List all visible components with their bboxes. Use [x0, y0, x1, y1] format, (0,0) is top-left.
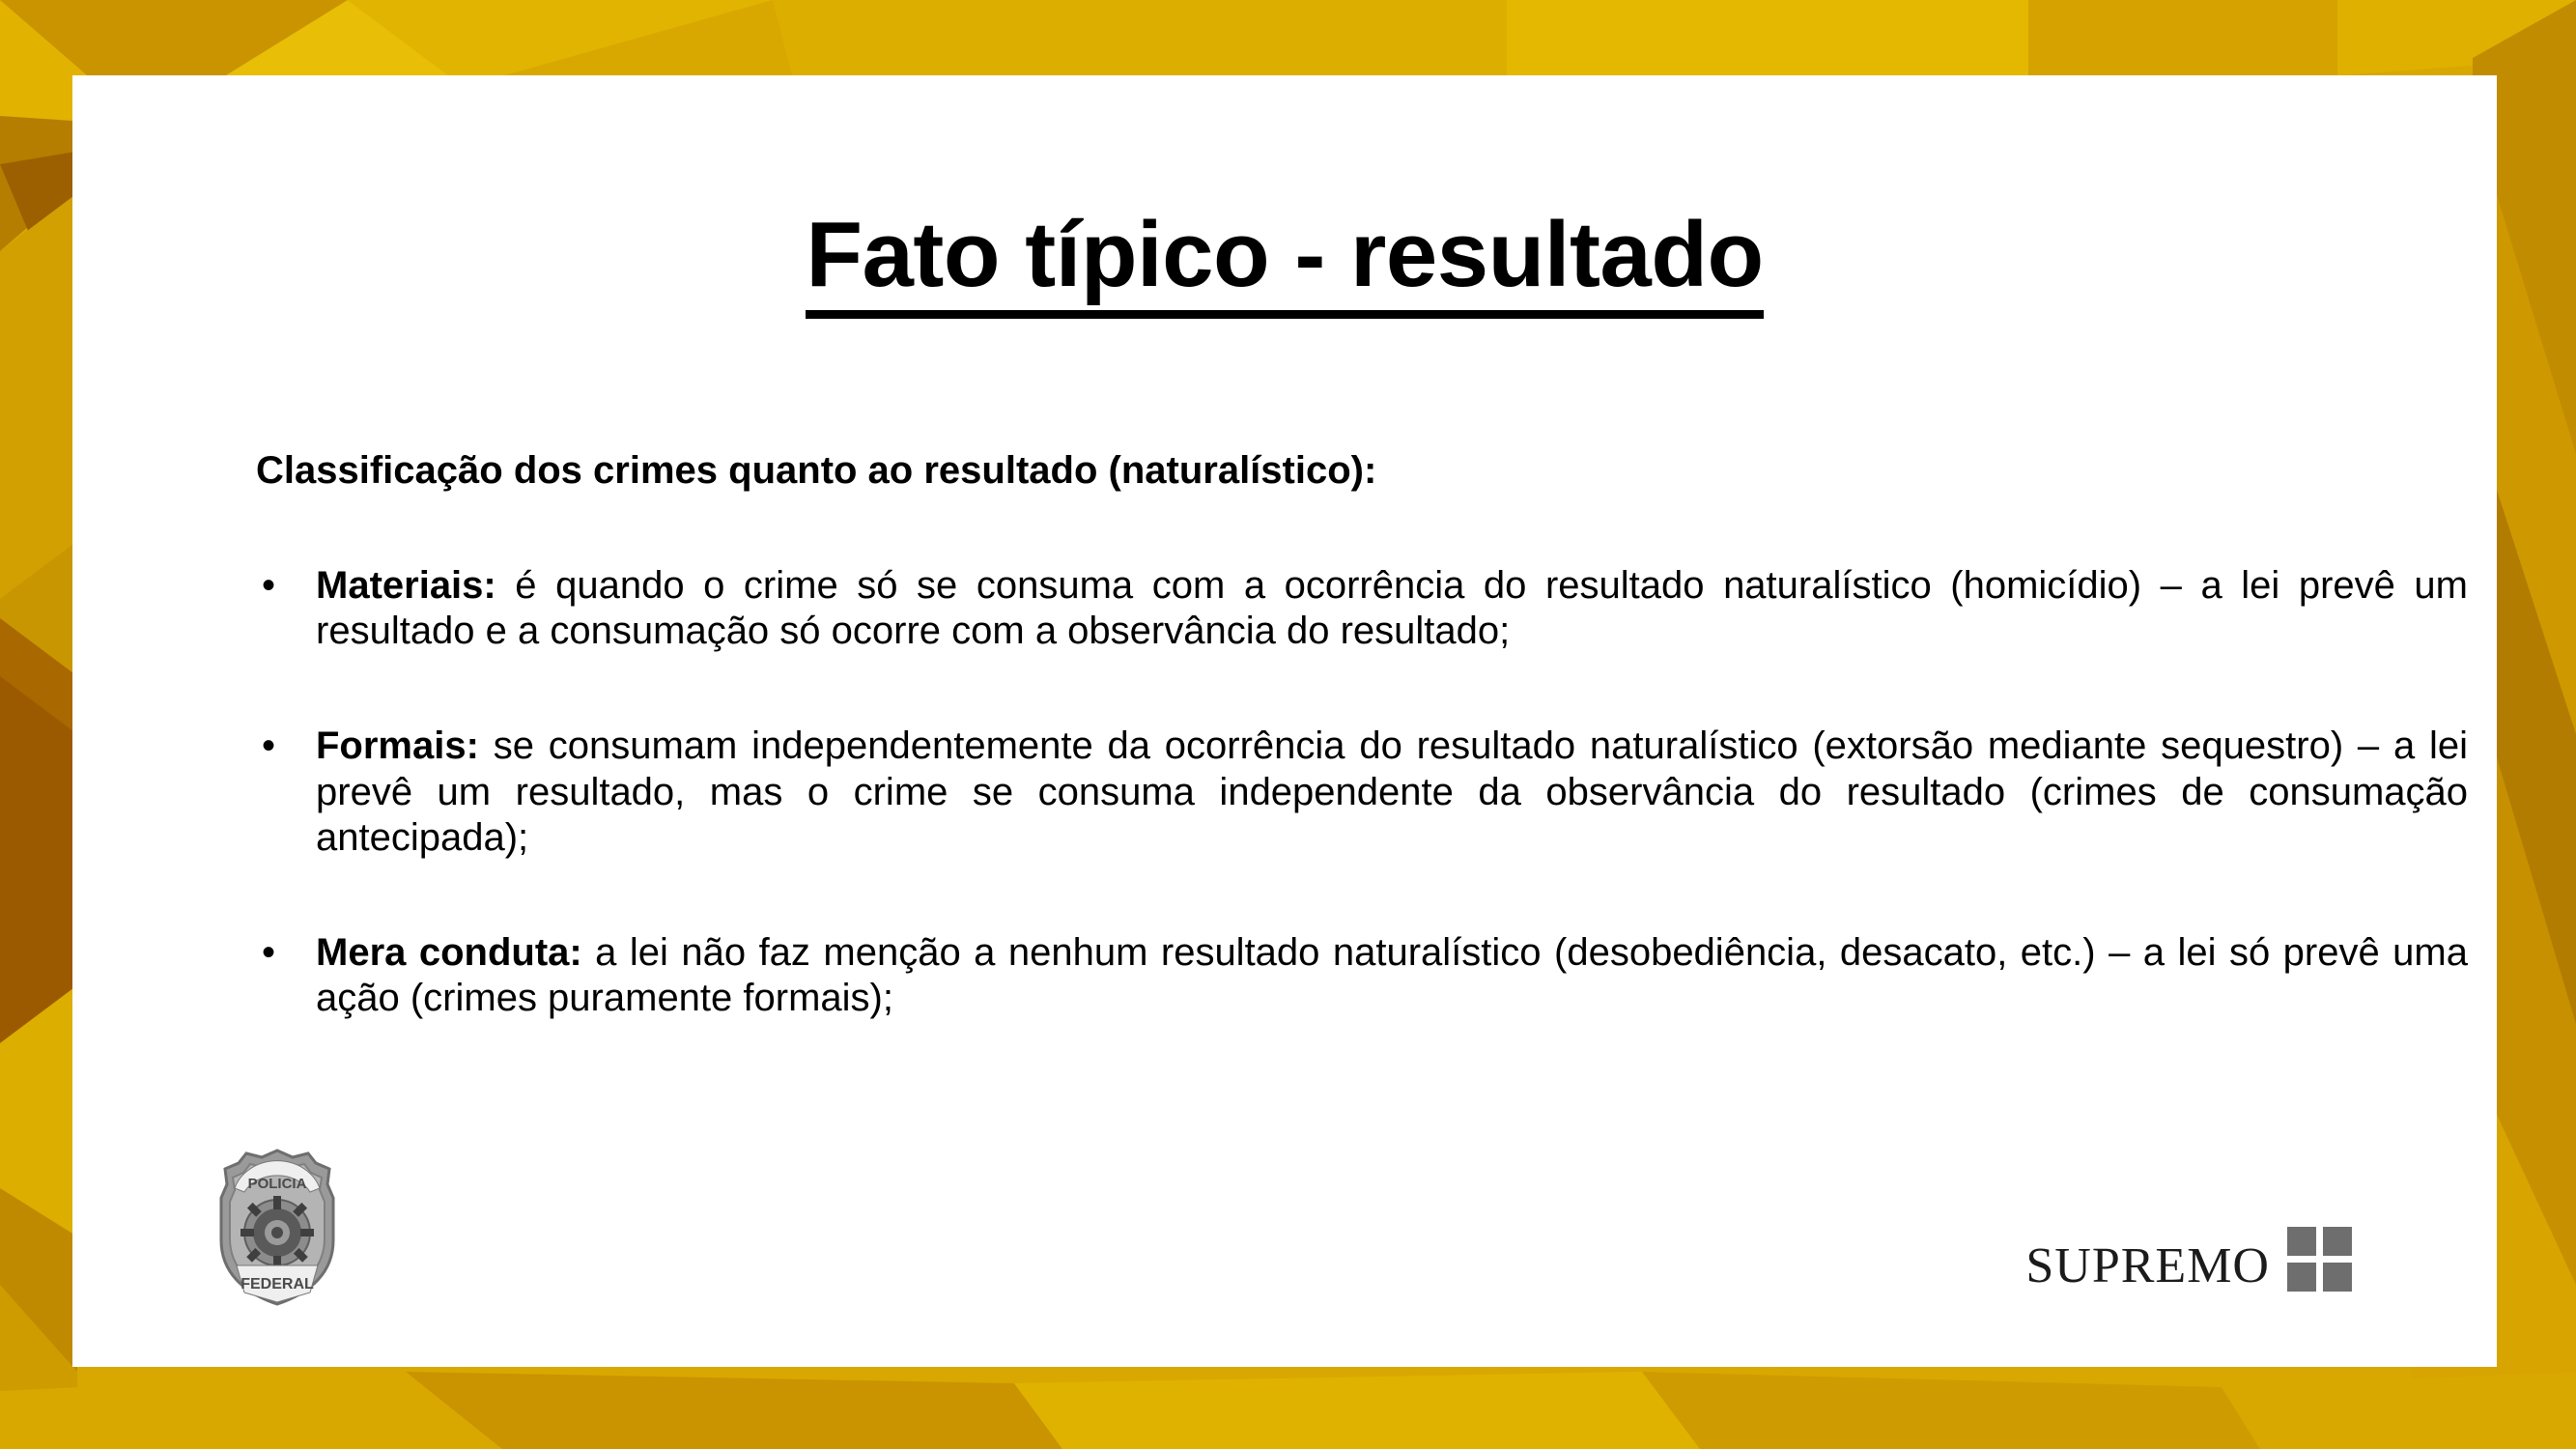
list-item: • Mera conduta: a lei não faz menção a n… — [256, 930, 2468, 1021]
bullet-term: Formais: — [316, 724, 479, 767]
bullet-point-icon: • — [262, 563, 275, 609]
policia-federal-badge-icon: POLICIA FEDERAL — [215, 1148, 339, 1307]
bullet-point-icon: • — [262, 930, 275, 976]
supremo-wordmark: Supremo — [2025, 1223, 2270, 1294]
list-item: • Formais: se consumam independentemente… — [256, 724, 2468, 861]
grid-square — [2323, 1227, 2352, 1256]
classification-bullet-list: • Materiais: é quando o crime só se cons… — [256, 563, 2468, 1021]
bullet-text: se consumam independentemente da ocorrên… — [316, 724, 2468, 858]
page-title-container: Fato típico - resultado — [72, 145, 2497, 381]
bullet-term: Mera conduta: — [316, 931, 582, 974]
lead-paragraph: Classificação dos crimes quanto ao resul… — [256, 447, 2468, 494]
grid-square — [2323, 1263, 2352, 1292]
bullet-point-icon: • — [262, 724, 275, 769]
slide-body: Classificação dos crimes quanto ao resul… — [256, 447, 2468, 1021]
supremo-logo: Supremo — [2025, 1223, 2352, 1294]
grid-square — [2287, 1263, 2316, 1292]
four-square-grid-icon — [2287, 1227, 2352, 1292]
slide-content-card: Fato típico - resultado Classificação do… — [72, 75, 2497, 1367]
presentation-slide: Fato típico - resultado Classificação do… — [0, 0, 2576, 1449]
bullet-text: é quando o crime só se consuma com a oco… — [316, 564, 2468, 652]
list-item: • Materiais: é quando o crime só se cons… — [256, 563, 2468, 654]
badge-top-text: POLICIA — [248, 1176, 307, 1192]
badge-bottom-text: FEDERAL — [241, 1276, 314, 1293]
bullet-text: a lei não faz menção a nenhum resultado … — [316, 931, 2468, 1019]
bullet-term: Materiais: — [316, 564, 496, 607]
grid-square — [2287, 1227, 2316, 1256]
page-title: Fato típico - resultado — [806, 207, 1763, 319]
